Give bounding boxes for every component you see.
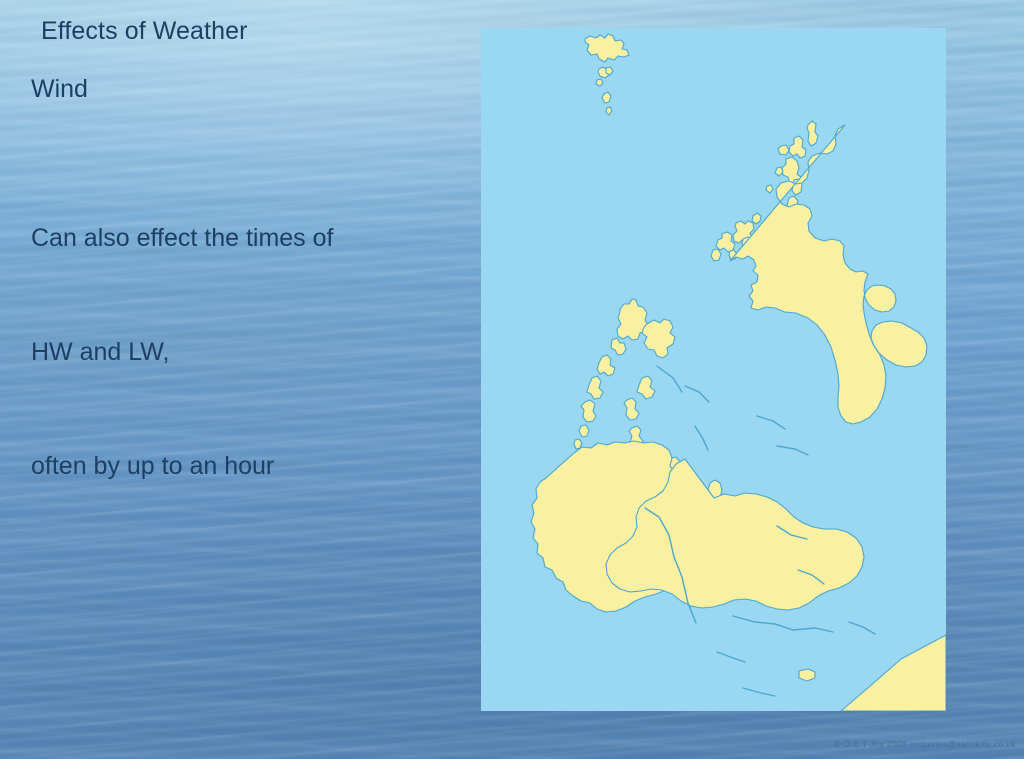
body-line-1: Can also effect the times of xyxy=(31,219,333,257)
region-isle-of-wight xyxy=(799,669,815,681)
slide-body-text: Can also effect the times of HW and LW, … xyxy=(31,143,333,561)
slide-subheading: Wind xyxy=(31,75,88,104)
british-isles-map xyxy=(481,28,946,711)
page-title: Effects of Weather xyxy=(41,17,248,46)
copyright-notice: © O E T Joy 2008 enquiries@sailskills.co… xyxy=(834,739,1016,749)
body-line-3: often by up to an hour xyxy=(31,447,333,485)
body-line-2: HW and LW, xyxy=(31,333,333,371)
presentation-slide: Effects of Weather Wind Can also effect … xyxy=(0,0,1024,759)
map-svg xyxy=(481,28,946,711)
